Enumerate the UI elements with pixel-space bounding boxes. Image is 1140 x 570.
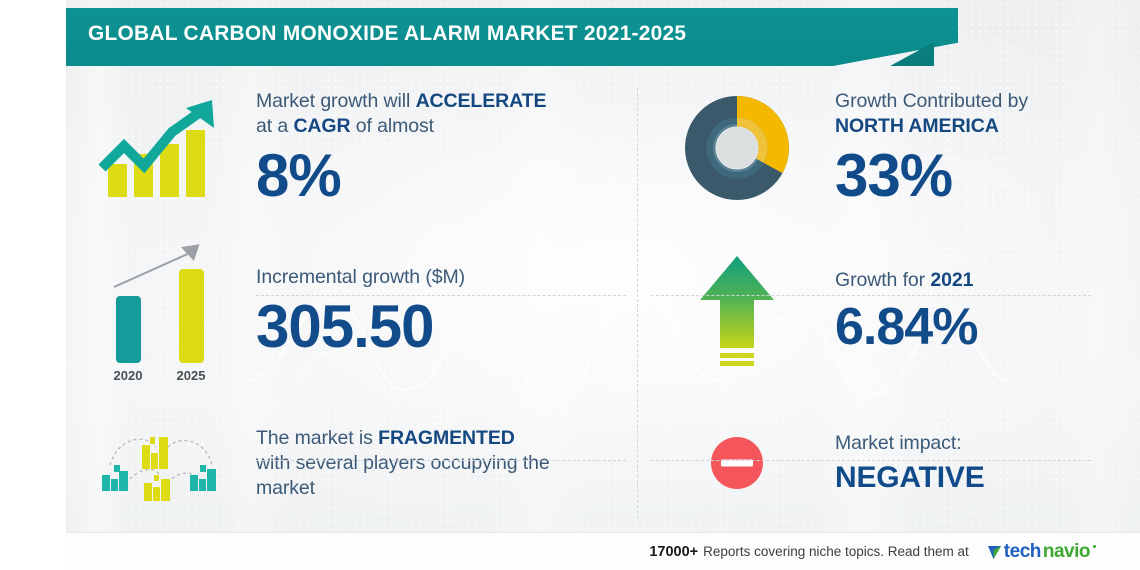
footer-report-count: 17000+ xyxy=(649,544,698,560)
technavio-logo[interactable]: technavio xyxy=(987,541,1096,563)
stat-region-contribution: Growth Contributed by NORTH AMERICA 33% xyxy=(639,66,1140,229)
cagr-caption-line2-plain-b: of almost xyxy=(350,115,434,137)
technavio-logo-dot xyxy=(1093,545,1096,548)
cagr-caption-line2-plain-a: at a xyxy=(256,115,293,137)
market-impact-label: Market impact: xyxy=(835,431,1140,456)
negative-sign-icon-slot xyxy=(639,435,835,491)
stat-cagr: Market growth will ACCELERATE at a CAGR … xyxy=(66,66,639,229)
fragmentation-bold: FRAGMENTED xyxy=(378,427,515,449)
up-arrow-icon xyxy=(696,252,778,372)
region-value: 33% xyxy=(835,145,1140,207)
bar-chart-icon: 2020 2025 xyxy=(94,239,228,385)
content-grid: Market growth will ACCELERATE at a CAGR … xyxy=(66,66,1140,532)
stat-incremental-growth-text: Incremental growth ($M) 305.50 xyxy=(256,265,639,358)
stat-market-impact: Market impact: NEGATIVE xyxy=(639,394,1140,532)
stat-fragmentation: The market is FRAGMENTED with several pl… xyxy=(66,394,639,532)
cagr-caption-line1-plain: Market growth will xyxy=(256,90,416,112)
yearly-growth-value: 6.84% xyxy=(835,299,1140,355)
market-impact-value: NEGATIVE xyxy=(835,460,1140,496)
region-caption: Growth Contributed by NORTH AMERICA xyxy=(835,89,1140,139)
left-divider-1 xyxy=(256,295,626,296)
stat-region-text: Growth Contributed by NORTH AMERICA 33% xyxy=(835,89,1140,207)
fragmentation-line1-plain: The market is xyxy=(256,427,378,449)
growth-chart-icon-slot xyxy=(66,92,256,204)
donut-chart-icon xyxy=(685,96,789,200)
city-cluster-icon xyxy=(94,421,228,505)
stat-yearly-growth: Growth for 2021 6.84% xyxy=(639,229,1140,394)
stat-yearly-growth-text: Growth for 2021 6.84% xyxy=(835,268,1140,355)
technavio-arrow-icon xyxy=(987,544,1002,560)
growth-chart-icon xyxy=(94,92,228,204)
page-title: GLOBAL CARBON MONOXIDE ALARM MARKET 2021… xyxy=(88,21,686,46)
footer-bar: 17000+ Reports covering niche topics. Re… xyxy=(66,532,1140,570)
negative-sign-icon xyxy=(709,435,765,491)
column-divider xyxy=(637,88,638,518)
fragmentation-caption: The market is FRAGMENTED with several pl… xyxy=(256,426,639,501)
stat-fragmentation-text: The market is FRAGMENTED with several pl… xyxy=(256,426,639,501)
technavio-logo-tech: tech xyxy=(1004,541,1041,563)
fragmentation-line2: with several players occupying the xyxy=(256,452,550,474)
fragmentation-line3: market xyxy=(256,477,315,499)
right-divider-1 xyxy=(651,295,1091,296)
stat-market-impact-text: Market impact: NEGATIVE xyxy=(835,431,1140,496)
footer-tagline: 17000+ Reports covering niche topics. Re… xyxy=(649,544,968,560)
yearly-growth-caption-plain: Growth for xyxy=(835,269,930,291)
left-column: Market growth will ACCELERATE at a CAGR … xyxy=(66,66,639,532)
city-cluster-icon-slot xyxy=(66,421,256,505)
left-divider-2 xyxy=(256,460,626,461)
stat-cagr-text: Market growth will ACCELERATE at a CAGR … xyxy=(256,89,639,207)
yearly-growth-year: 2021 xyxy=(930,269,973,291)
cagr-caption-cagr: CAGR xyxy=(293,115,350,137)
bar-chart-icon-slot: 2020 2025 xyxy=(66,239,256,385)
donut-chart-icon-slot xyxy=(639,96,835,200)
incremental-growth-label: Incremental growth ($M) xyxy=(256,265,639,290)
cagr-caption-accelerate: ACCELERATE xyxy=(416,90,547,112)
content-panel: GLOBAL CARBON MONOXIDE ALARM MARKET 2021… xyxy=(66,0,1140,570)
right-divider-2 xyxy=(651,460,1091,461)
up-arrow-icon-slot xyxy=(639,252,835,372)
right-column: Growth Contributed by NORTH AMERICA 33% xyxy=(639,66,1140,532)
bar-label-2025: 2025 xyxy=(177,368,206,383)
stat-incremental-growth: 2020 2025 Incremental growth ($M) 305.50 xyxy=(66,229,639,394)
technavio-logo-navio: navio xyxy=(1043,541,1090,563)
incremental-growth-value: 305.50 xyxy=(256,296,639,358)
footer-tagline-text: Reports covering niche topics. Read them… xyxy=(703,544,969,559)
region-caption-plain: Growth Contributed by xyxy=(835,90,1028,112)
region-caption-bold: NORTH AMERICA xyxy=(835,115,999,137)
infographic-canvas: GLOBAL CARBON MONOXIDE ALARM MARKET 2021… xyxy=(0,0,1140,570)
cagr-value: 8% xyxy=(256,145,639,207)
bar-label-2020: 2020 xyxy=(114,368,143,383)
cagr-caption: Market growth will ACCELERATE at a CAGR … xyxy=(256,89,639,139)
yearly-growth-caption: Growth for 2021 xyxy=(835,268,1140,293)
